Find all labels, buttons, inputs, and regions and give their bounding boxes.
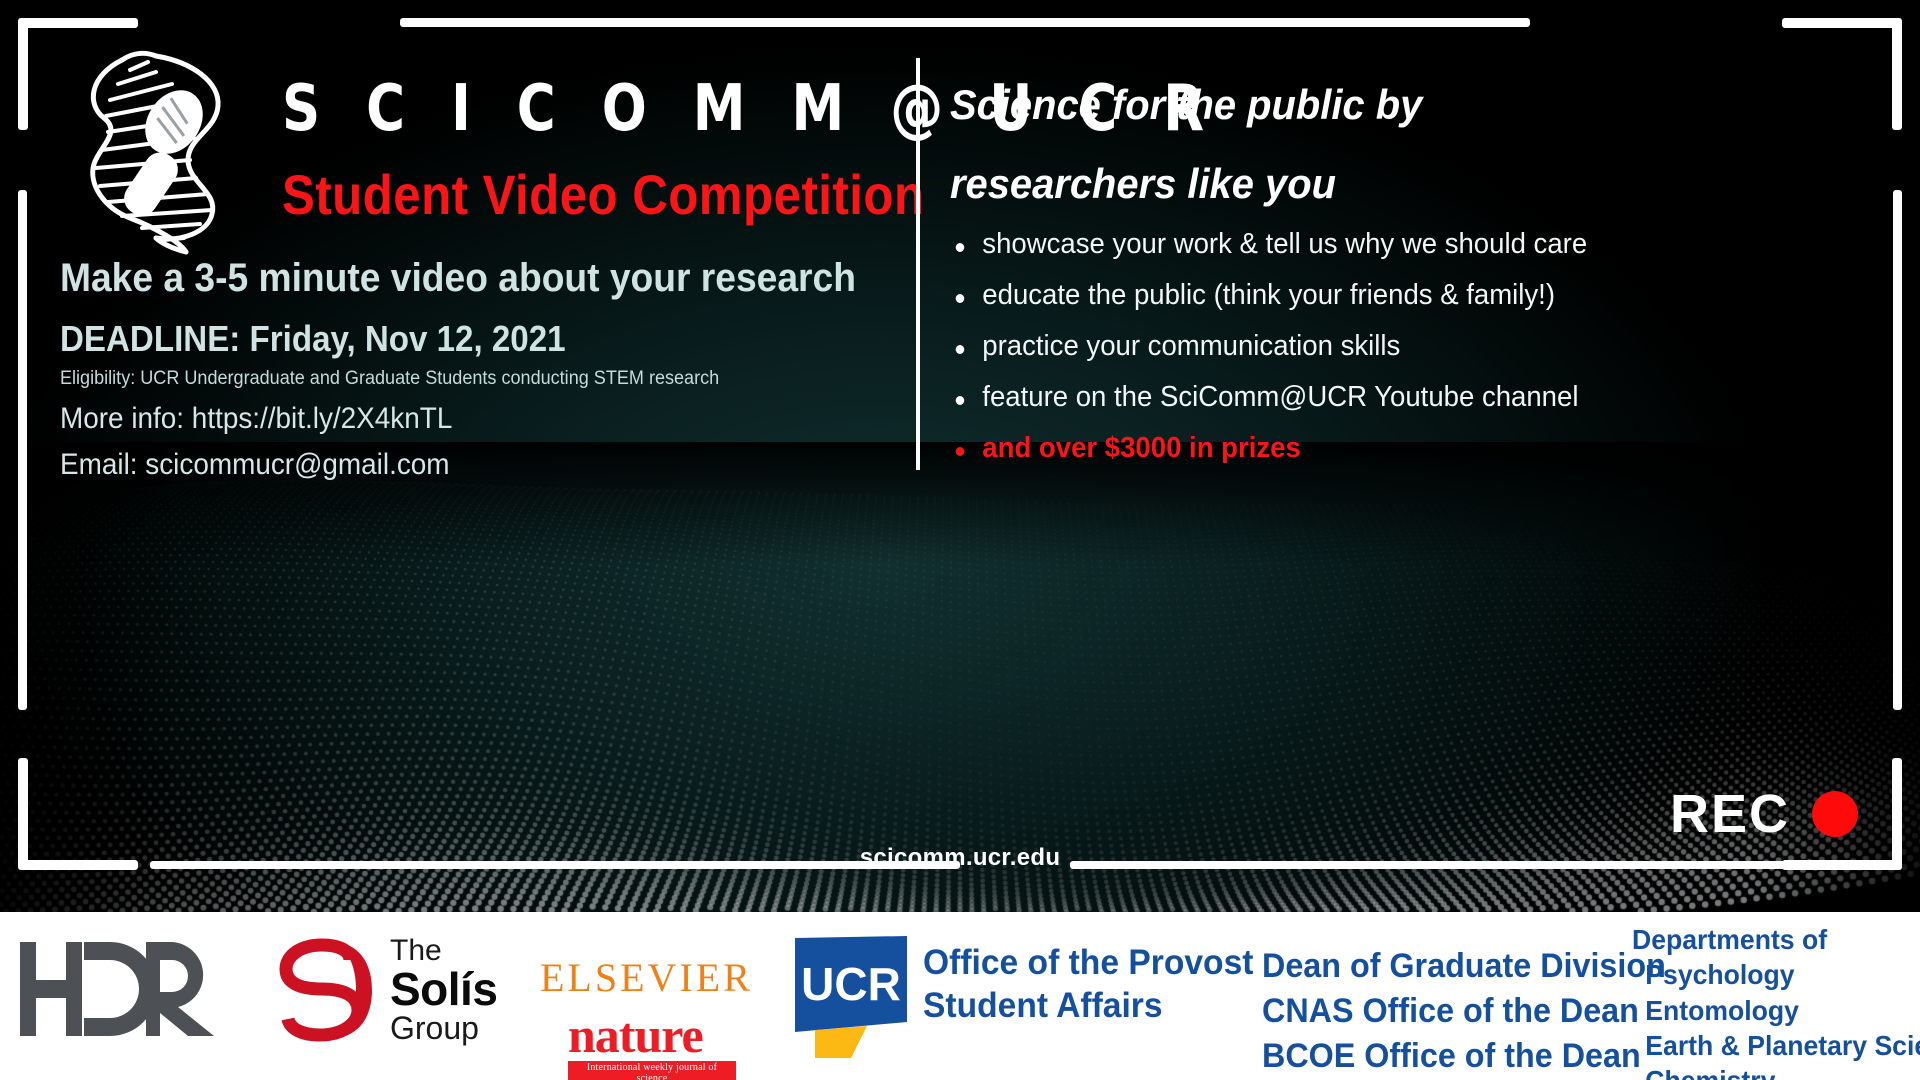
department-item-3: Earth & Planetary Sciences <box>1632 1028 1920 1063</box>
dean-line-1: Dean of Graduate Division <box>1262 944 1666 989</box>
vertical-divider <box>916 58 920 470</box>
hdr-logo-icon <box>18 934 233 1044</box>
elsevier-logo: ELSEVIER <box>540 954 753 1001</box>
dean-sponsors-list: Dean of Graduate Division CNAS Office of… <box>1262 944 1666 1079</box>
dotted-wave-mesh-graphic <box>0 442 1920 912</box>
tagline-text: Make a 3-5 minute video about your resea… <box>60 256 856 301</box>
poster-root: S C I C O M M @ U C R Student Video Comp… <box>0 0 1920 1080</box>
ucr-mark-icon: UCR <box>795 936 907 1058</box>
dean-line-3: BCOE Office of the Dean <box>1262 1034 1666 1079</box>
departments-list: Departments of Psychology Entomology Ear… <box>1632 922 1920 1080</box>
eligibility-text: Eligibility: UCR Undergraduate and Gradu… <box>60 368 719 390</box>
ucr-provost-text: Office of the Provost Student Affairs <box>923 936 1253 1027</box>
department-item-4: Chemistry <box>1632 1063 1920 1080</box>
sponsor-bar: The Solís Group ELSEVIER nature Internat… <box>0 912 1920 1080</box>
benefit-item-3: practice your communication skills <box>950 330 1539 363</box>
ucr-provost-logo: UCR Office of the Provost Student Affair… <box>795 936 1267 1058</box>
solis-s-logo-icon <box>272 936 382 1044</box>
ucr-line-2: Student Affairs <box>923 985 1253 1028</box>
rec-label: REC <box>1670 783 1790 845</box>
nature-logo: nature International weekly journal of s… <box>568 1012 736 1080</box>
dean-line-2: CNAS Office of the Dean <box>1262 989 1666 1034</box>
benefit-item-1: showcase your work & tell us why we shou… <box>950 228 1539 261</box>
deadline-text: DEADLINE: Friday, Nov 12, 2021 <box>60 318 566 360</box>
department-item-2: Entomology <box>1632 993 1920 1028</box>
rec-indicator: REC <box>1670 783 1858 845</box>
right-headline: Science for the public by researchers li… <box>950 66 1482 224</box>
svg-text:UCR: UCR <box>801 958 901 1010</box>
benefit-item-5: and over $3000 in prizes <box>950 432 1539 465</box>
solis-name-label: Solís <box>390 966 497 1012</box>
ucr-line-1: Office of the Provost <box>923 942 1253 985</box>
solis-group-logo: The Solís Group <box>272 936 497 1044</box>
website-text[interactable]: scicomm.ucr.edu <box>0 844 1920 872</box>
benefit-item-2: educate the public (think your friends &… <box>950 279 1539 312</box>
solis-the-label: The <box>390 936 497 966</box>
nature-wordmark: nature <box>568 1012 736 1060</box>
record-dot-icon <box>1812 791 1858 837</box>
benefits-list: showcase your work & tell us why we shou… <box>950 228 1570 483</box>
solis-group-label: Group <box>390 1012 497 1044</box>
more-info-link[interactable]: More info: https://bit.ly/2X4knTL <box>60 402 452 436</box>
departments-heading: Departments of <box>1632 922 1920 957</box>
nature-tagline: International weekly journal of science <box>568 1061 736 1080</box>
department-item-1: Psychology <box>1632 957 1920 992</box>
page-subtitle: Student Video Competition <box>282 162 924 227</box>
email-link[interactable]: Email: scicommucr@gmail.com <box>60 448 450 482</box>
dna-microphone-icon <box>60 42 270 257</box>
benefit-item-4: feature on the SciComm@UCR Youtube chann… <box>950 381 1539 414</box>
